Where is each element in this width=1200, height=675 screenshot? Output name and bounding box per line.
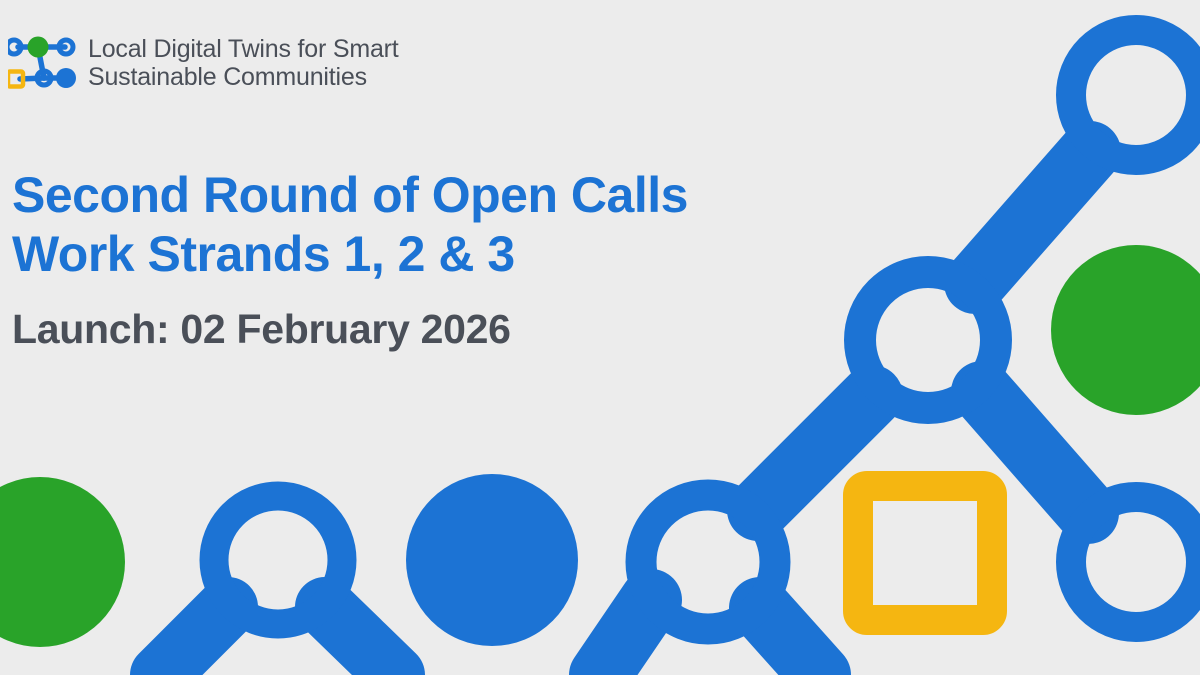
graphic-edge-bottomleft-right bbox=[325, 607, 395, 675]
graphic-edge-bottomleft-down bbox=[160, 607, 228, 675]
graphic-edge-bottommid-tail bbox=[760, 608, 820, 675]
graphic-ring-bottom-right bbox=[1071, 497, 1200, 627]
graphic-edge-center-to-bottomright bbox=[982, 392, 1088, 513]
slide-canvas: Local Digital Twins for Smart Sustainabl… bbox=[0, 0, 1200, 675]
logo-wordmark-line2: Sustainable Communities bbox=[88, 63, 399, 91]
logo-node-top-left-ring bbox=[8, 40, 21, 54]
launch-date: Launch: 02 February 2026 bbox=[12, 306, 688, 353]
logo-node-bottom-left-square bbox=[8, 72, 23, 87]
headline-line-2: Work Strands 1, 2 & 3 bbox=[12, 225, 688, 284]
logo: Local Digital Twins for Smart Sustainabl… bbox=[8, 30, 399, 96]
graphic-ring-bottom-left bbox=[214, 496, 342, 624]
graphic-square-yellow bbox=[858, 486, 992, 620]
text-block: Second Round of Open Calls Work Strands … bbox=[12, 166, 688, 353]
graphic-edge-center-to-topright bbox=[975, 152, 1090, 283]
logo-wordmark-line1: Local Digital Twins for Smart bbox=[88, 35, 399, 63]
graphic-ring-top-right bbox=[1071, 30, 1200, 160]
logo-node-bottom-right-blue bbox=[56, 68, 76, 88]
headline-line-1: Second Round of Open Calls bbox=[12, 166, 688, 225]
graphic-circle-blue-filled bbox=[406, 474, 578, 646]
network-nodes-logo-icon bbox=[8, 30, 78, 96]
logo-wordmark: Local Digital Twins for Smart Sustainabl… bbox=[88, 35, 399, 91]
graphic-edge-center-to-bottommid bbox=[758, 396, 872, 510]
graphic-edge-bottommid-down bbox=[600, 600, 651, 675]
graphic-ring-center bbox=[860, 272, 996, 408]
graphic-circle-green-left bbox=[0, 477, 125, 647]
graphic-ring-bottom-mid bbox=[641, 495, 775, 629]
logo-node-top-mid-green bbox=[28, 37, 49, 58]
graphic-circle-green-right bbox=[1051, 245, 1200, 415]
